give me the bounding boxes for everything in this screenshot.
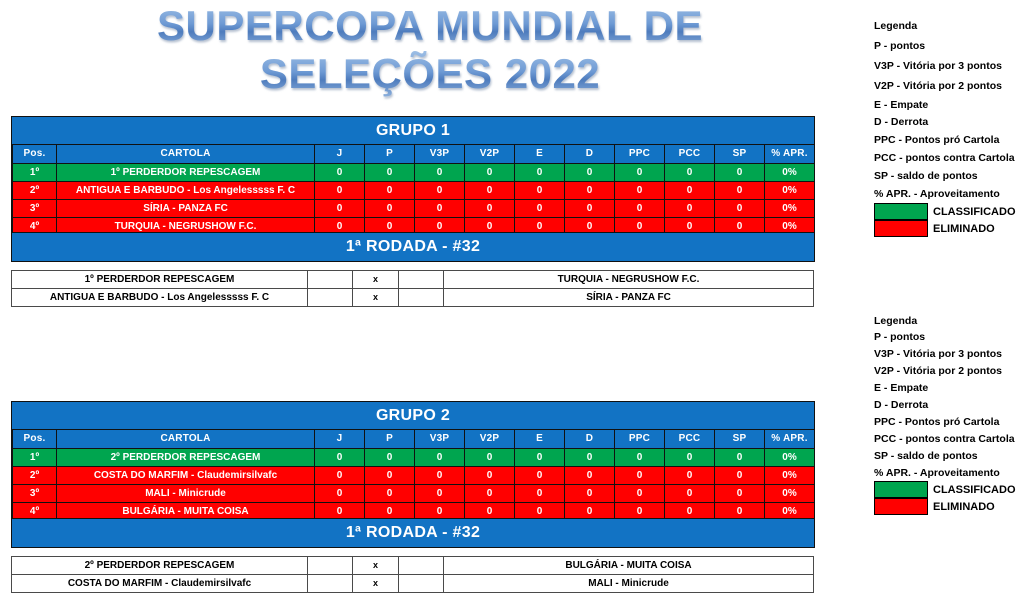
match-home-team: 2º PERDERDOR REPESCAGEM <box>12 557 308 575</box>
cell-p: 0 <box>365 164 415 182</box>
classified-color-swatch <box>874 481 928 498</box>
cell-pos: 2º <box>13 182 57 200</box>
cell-pcc: 0 <box>665 485 715 503</box>
cell-v3p: 0 <box>415 164 465 182</box>
legend-line-apr: % APR. - Aproveitamento <box>874 467 1016 479</box>
table-row: 3º MALI - Minicrude 0 0 0 0 0 0 0 0 0 0% <box>13 485 815 503</box>
col-sp: SP <box>715 430 765 449</box>
cell-v2p: 0 <box>465 200 515 218</box>
eliminated-color-swatch <box>874 498 928 515</box>
legend-line-p: P - pontos <box>874 331 1016 343</box>
cell-pos: 3º <box>13 485 57 503</box>
legend-line-pcc: PCC - pontos contra Cartola <box>874 433 1016 445</box>
cell-pcc: 0 <box>665 467 715 485</box>
col-cartola: CARTOLA <box>57 145 315 164</box>
cell-p: 0 <box>365 449 415 467</box>
col-pcc: PCC <box>665 430 715 449</box>
cell-apr: 0% <box>765 485 815 503</box>
cell-ppc: 0 <box>615 182 665 200</box>
cell-p: 0 <box>365 182 415 200</box>
legend-line-pcc: PCC - pontos contra Cartola <box>874 152 1016 164</box>
legend-classified-label: CLASSIFICADO <box>928 484 1016 496</box>
cell-cartola: SÍRIA - PANZA FC <box>57 200 315 218</box>
cell-p: 0 <box>365 485 415 503</box>
col-cartola: CARTOLA <box>57 430 315 449</box>
cell-pos: 3º <box>13 200 57 218</box>
group-band-2: GRUPO 2 <box>12 402 814 429</box>
match-home-team: 1º PERDERDOR REPESCAGEM <box>12 271 308 289</box>
cell-apr: 0% <box>765 164 815 182</box>
standings-grid-group-1: Pos. CARTOLA J P V3P V2P E D PPC PCC SP … <box>12 144 815 236</box>
match-home-score[interactable] <box>308 557 353 575</box>
cell-v2p: 0 <box>465 485 515 503</box>
col-j: J <box>315 430 365 449</box>
match-away-score[interactable] <box>399 289 444 307</box>
legend-classified-label: CLASSIFICADO <box>928 206 1016 218</box>
cell-ppc: 0 <box>615 449 665 467</box>
cell-j: 0 <box>315 467 365 485</box>
cell-pcc: 0 <box>665 200 715 218</box>
legend-line-d: D - Derrota <box>874 399 1016 411</box>
cell-pcc: 0 <box>665 449 715 467</box>
cell-apr: 0% <box>765 449 815 467</box>
col-v2p: V2P <box>465 430 515 449</box>
cell-j: 0 <box>315 164 365 182</box>
cell-j: 0 <box>315 485 365 503</box>
cell-v3p: 0 <box>415 467 465 485</box>
cell-cartola: MALI - Minicrude <box>57 485 315 503</box>
col-e: E <box>515 145 565 164</box>
cell-v2p: 0 <box>465 182 515 200</box>
col-apr: % APR. <box>765 430 815 449</box>
match-away-team: TURQUIA - NEGRUSHOW F.C. <box>444 271 814 289</box>
cell-cartola: 2º PERDERDOR REPESCAGEM <box>57 449 315 467</box>
cell-j: 0 <box>315 182 365 200</box>
col-pos: Pos. <box>13 145 57 164</box>
legend-line-p: P - pontos <box>874 40 1016 52</box>
legend-title: Legenda <box>874 20 1016 32</box>
cell-ppc: 0 <box>615 485 665 503</box>
col-ppc: PPC <box>615 145 665 164</box>
match-home-team: COSTA DO MARFIM - Claudemirsilvafc <box>12 575 308 593</box>
cell-v3p: 0 <box>415 449 465 467</box>
cell-cartola: 1º PERDERDOR REPESCAGEM <box>57 164 315 182</box>
cell-p: 0 <box>365 200 415 218</box>
match-table-group-1: 1º PERDERDOR REPESCAGEM x TURQUIA - NEGR… <box>11 270 814 307</box>
cell-sp: 0 <box>715 467 765 485</box>
match-home-score[interactable] <box>308 271 353 289</box>
page-title-line-1: SUPERCOPA MUNDIAL DE <box>0 2 860 50</box>
legend-line-v2p: V2P - Vitória por 2 pontos <box>874 80 1016 92</box>
table-row: 2º COSTA DO MARFIM - Claudemirsilvafc 0 … <box>13 467 815 485</box>
cell-d: 0 <box>565 485 615 503</box>
legend-classified-row: CLASSIFICADO <box>874 203 1016 220</box>
cell-e: 0 <box>515 485 565 503</box>
cell-ppc: 0 <box>615 467 665 485</box>
cell-sp: 0 <box>715 182 765 200</box>
cell-p: 0 <box>365 467 415 485</box>
cell-d: 0 <box>565 449 615 467</box>
legend-eliminated-row: ELIMINADO <box>874 220 1016 237</box>
match-separator: x <box>353 271 399 289</box>
match-table-group-2: 2º PERDERDOR REPESCAGEM x BULGÁRIA - MUI… <box>11 556 814 593</box>
match-away-team: MALI - Minicrude <box>444 575 814 593</box>
cell-sp: 0 <box>715 449 765 467</box>
match-home-team: ANTIGUA E BARBUDO - Los Angelesssss F. C <box>12 289 308 307</box>
cell-apr: 0% <box>765 182 815 200</box>
table-row: 3º SÍRIA - PANZA FC 0 0 0 0 0 0 0 0 0 0% <box>13 200 815 218</box>
legend-title: Legenda <box>874 315 1016 327</box>
legend-eliminated-label: ELIMINADO <box>928 501 995 513</box>
legend-line-e: E - Empate <box>874 382 1016 394</box>
legend-eliminated-row: ELIMINADO <box>874 498 1016 515</box>
cell-v3p: 0 <box>415 200 465 218</box>
cell-apr: 0% <box>765 200 815 218</box>
legend-line-v3p: V3P - Vitória por 3 pontos <box>874 60 1016 72</box>
cell-sp: 0 <box>715 200 765 218</box>
table-row: 1º 2º PERDERDOR REPESCAGEM 0 0 0 0 0 0 0… <box>13 449 815 467</box>
cell-e: 0 <box>515 449 565 467</box>
cell-pos: 1º <box>13 449 57 467</box>
group-band-1: GRUPO 1 <box>12 117 814 144</box>
cell-e: 0 <box>515 164 565 182</box>
col-d: D <box>565 145 615 164</box>
cell-d: 0 <box>565 164 615 182</box>
col-j: J <box>315 145 365 164</box>
cell-apr: 0% <box>765 467 815 485</box>
col-p: P <box>365 430 415 449</box>
match-away-score[interactable] <box>399 557 444 575</box>
legend-top: Legenda P - pontos V3P - Vitória por 3 p… <box>874 20 1016 237</box>
col-apr: % APR. <box>765 145 815 164</box>
cell-d: 0 <box>565 200 615 218</box>
match-home-score[interactable] <box>308 575 353 593</box>
rodada-band-group-2: 1ª RODADA - #32 <box>11 518 815 548</box>
match-away-score[interactable] <box>399 575 444 593</box>
cell-ppc: 0 <box>615 200 665 218</box>
col-d: D <box>565 430 615 449</box>
eliminated-color-swatch <box>874 220 928 237</box>
legend-line-sp: SP - saldo de pontos <box>874 170 1016 182</box>
legend-line-ppc: PPC - Pontos pró Cartola <box>874 134 1016 146</box>
standings-grid-group-2: Pos. CARTOLA J P V3P V2P E D PPC PCC SP … <box>12 429 815 521</box>
legend-line-v3p: V3P - Vitória por 3 pontos <box>874 348 1016 360</box>
table-row: 1º 1º PERDERDOR REPESCAGEM 0 0 0 0 0 0 0… <box>13 164 815 182</box>
cell-v3p: 0 <box>415 182 465 200</box>
legend-line-sp: SP - saldo de pontos <box>874 450 1016 462</box>
list-item: 2º PERDERDOR REPESCAGEM x BULGÁRIA - MUI… <box>12 557 814 575</box>
cell-j: 0 <box>315 200 365 218</box>
page-title-line-2: SELEÇÕES 2022 <box>0 50 860 98</box>
match-separator: x <box>353 289 399 307</box>
match-separator: x <box>353 557 399 575</box>
legend-line-v2p: V2P - Vitória por 2 pontos <box>874 365 1016 377</box>
match-away-score[interactable] <box>399 271 444 289</box>
list-item: ANTIGUA E BARBUDO - Los Angelesssss F. C… <box>12 289 814 307</box>
standings-table-group-2: GRUPO 2 Pos. CARTOLA J P V3P V2P E D PPC… <box>11 401 815 522</box>
cell-d: 0 <box>565 182 615 200</box>
match-home-score[interactable] <box>308 289 353 307</box>
legend-classified-row: CLASSIFICADO <box>874 481 1016 498</box>
col-v2p: V2P <box>465 145 515 164</box>
col-sp: SP <box>715 145 765 164</box>
cell-pos: 2º <box>13 467 57 485</box>
standings-header-row: Pos. CARTOLA J P V3P V2P E D PPC PCC SP … <box>13 145 815 164</box>
legend-line-apr: % APR. - Aproveitamento <box>874 188 1016 200</box>
rodada-band-group-1: 1ª RODADA - #32 <box>11 232 815 262</box>
col-e: E <box>515 430 565 449</box>
legend-eliminated-label: ELIMINADO <box>928 223 995 235</box>
cell-pcc: 0 <box>665 164 715 182</box>
cell-pos: 1º <box>13 164 57 182</box>
match-separator: x <box>353 575 399 593</box>
col-v3p: V3P <box>415 430 465 449</box>
list-item: 1º PERDERDOR REPESCAGEM x TURQUIA - NEGR… <box>12 271 814 289</box>
cell-ppc: 0 <box>615 164 665 182</box>
cell-d: 0 <box>565 467 615 485</box>
cell-sp: 0 <box>715 164 765 182</box>
table-row: 2º ANTIGUA E BARBUDO - Los Angelesssss F… <box>13 182 815 200</box>
page-title: SUPERCOPA MUNDIAL DE SELEÇÕES 2022 <box>0 2 860 98</box>
legend-line-d: D - Derrota <box>874 116 1016 128</box>
match-away-team: SÍRIA - PANZA FC <box>444 289 814 307</box>
cell-e: 0 <box>515 467 565 485</box>
cell-pcc: 0 <box>665 182 715 200</box>
cell-v2p: 0 <box>465 449 515 467</box>
cell-e: 0 <box>515 182 565 200</box>
col-ppc: PPC <box>615 430 665 449</box>
classified-color-swatch <box>874 203 928 220</box>
legend-line-e: E - Empate <box>874 99 1016 111</box>
standings-header-row: Pos. CARTOLA J P V3P V2P E D PPC PCC SP … <box>13 430 815 449</box>
cell-e: 0 <box>515 200 565 218</box>
col-v3p: V3P <box>415 145 465 164</box>
col-pos: Pos. <box>13 430 57 449</box>
standings-table-group-1: GRUPO 1 Pos. CARTOLA J P V3P V2P E D PPC… <box>11 116 815 237</box>
list-item: COSTA DO MARFIM - Claudemirsilvafc x MAL… <box>12 575 814 593</box>
cell-cartola: ANTIGUA E BARBUDO - Los Angelesssss F. C <box>57 182 315 200</box>
legend-line-ppc: PPC - Pontos pró Cartola <box>874 416 1016 428</box>
cell-v3p: 0 <box>415 485 465 503</box>
cell-j: 0 <box>315 449 365 467</box>
col-pcc: PCC <box>665 145 715 164</box>
cell-sp: 0 <box>715 485 765 503</box>
cell-cartola: COSTA DO MARFIM - Claudemirsilvafc <box>57 467 315 485</box>
col-p: P <box>365 145 415 164</box>
match-away-team: BULGÁRIA - MUITA COISA <box>444 557 814 575</box>
cell-v2p: 0 <box>465 164 515 182</box>
legend-bottom: Legenda P - pontos V3P - Vitória por 3 p… <box>874 315 1016 515</box>
cell-v2p: 0 <box>465 467 515 485</box>
